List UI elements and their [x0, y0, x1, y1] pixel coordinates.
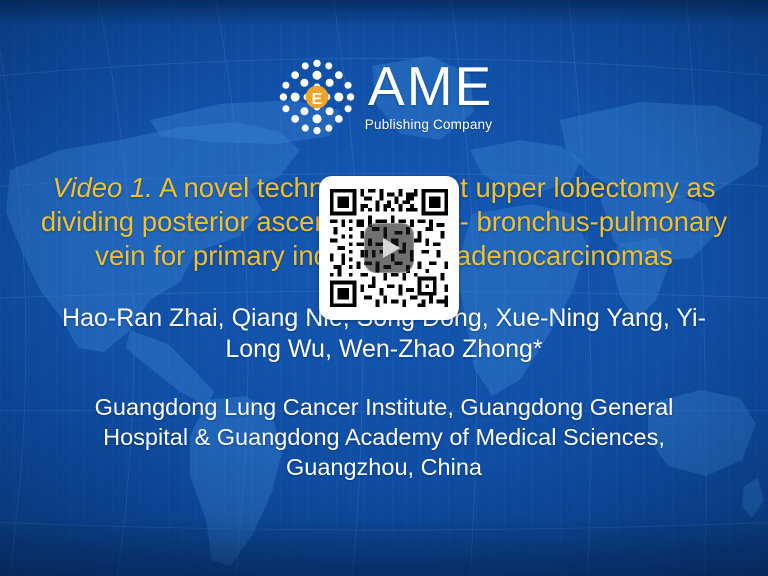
author-line-2: Long Wu, Wen-Zhao Zhong*	[225, 335, 542, 363]
affiliation-line-2: Hospital & Guangdong Academy of Medical …	[103, 424, 665, 450]
video-number-label: Video 1.	[52, 172, 152, 203]
play-triangle-icon	[383, 238, 400, 258]
affiliation-line-3: Guangzhou, China	[286, 454, 482, 480]
affiliation: Guangdong Lung Cancer Institute, Guangdo…	[57, 392, 712, 482]
play-button[interactable]	[364, 223, 414, 273]
video-qr-overlay[interactable]	[319, 176, 459, 320]
ame-tagline: Publishing Company	[365, 118, 492, 132]
ame-wordmark: AME Publishing Company	[365, 60, 493, 133]
ame-logo-letter: E	[311, 91, 322, 108]
affiliation-line-1: Guangdong Lung Cancer Institute, Guangdo…	[95, 394, 674, 420]
ame-dot-circle-logo-icon: E	[275, 55, 359, 139]
ame-logo: E AME Publishing Company	[275, 54, 493, 140]
video-slide: E AME Publishing Company Video 1. A nove…	[0, 0, 768, 576]
ame-wordmark-text: AME	[368, 60, 493, 113]
